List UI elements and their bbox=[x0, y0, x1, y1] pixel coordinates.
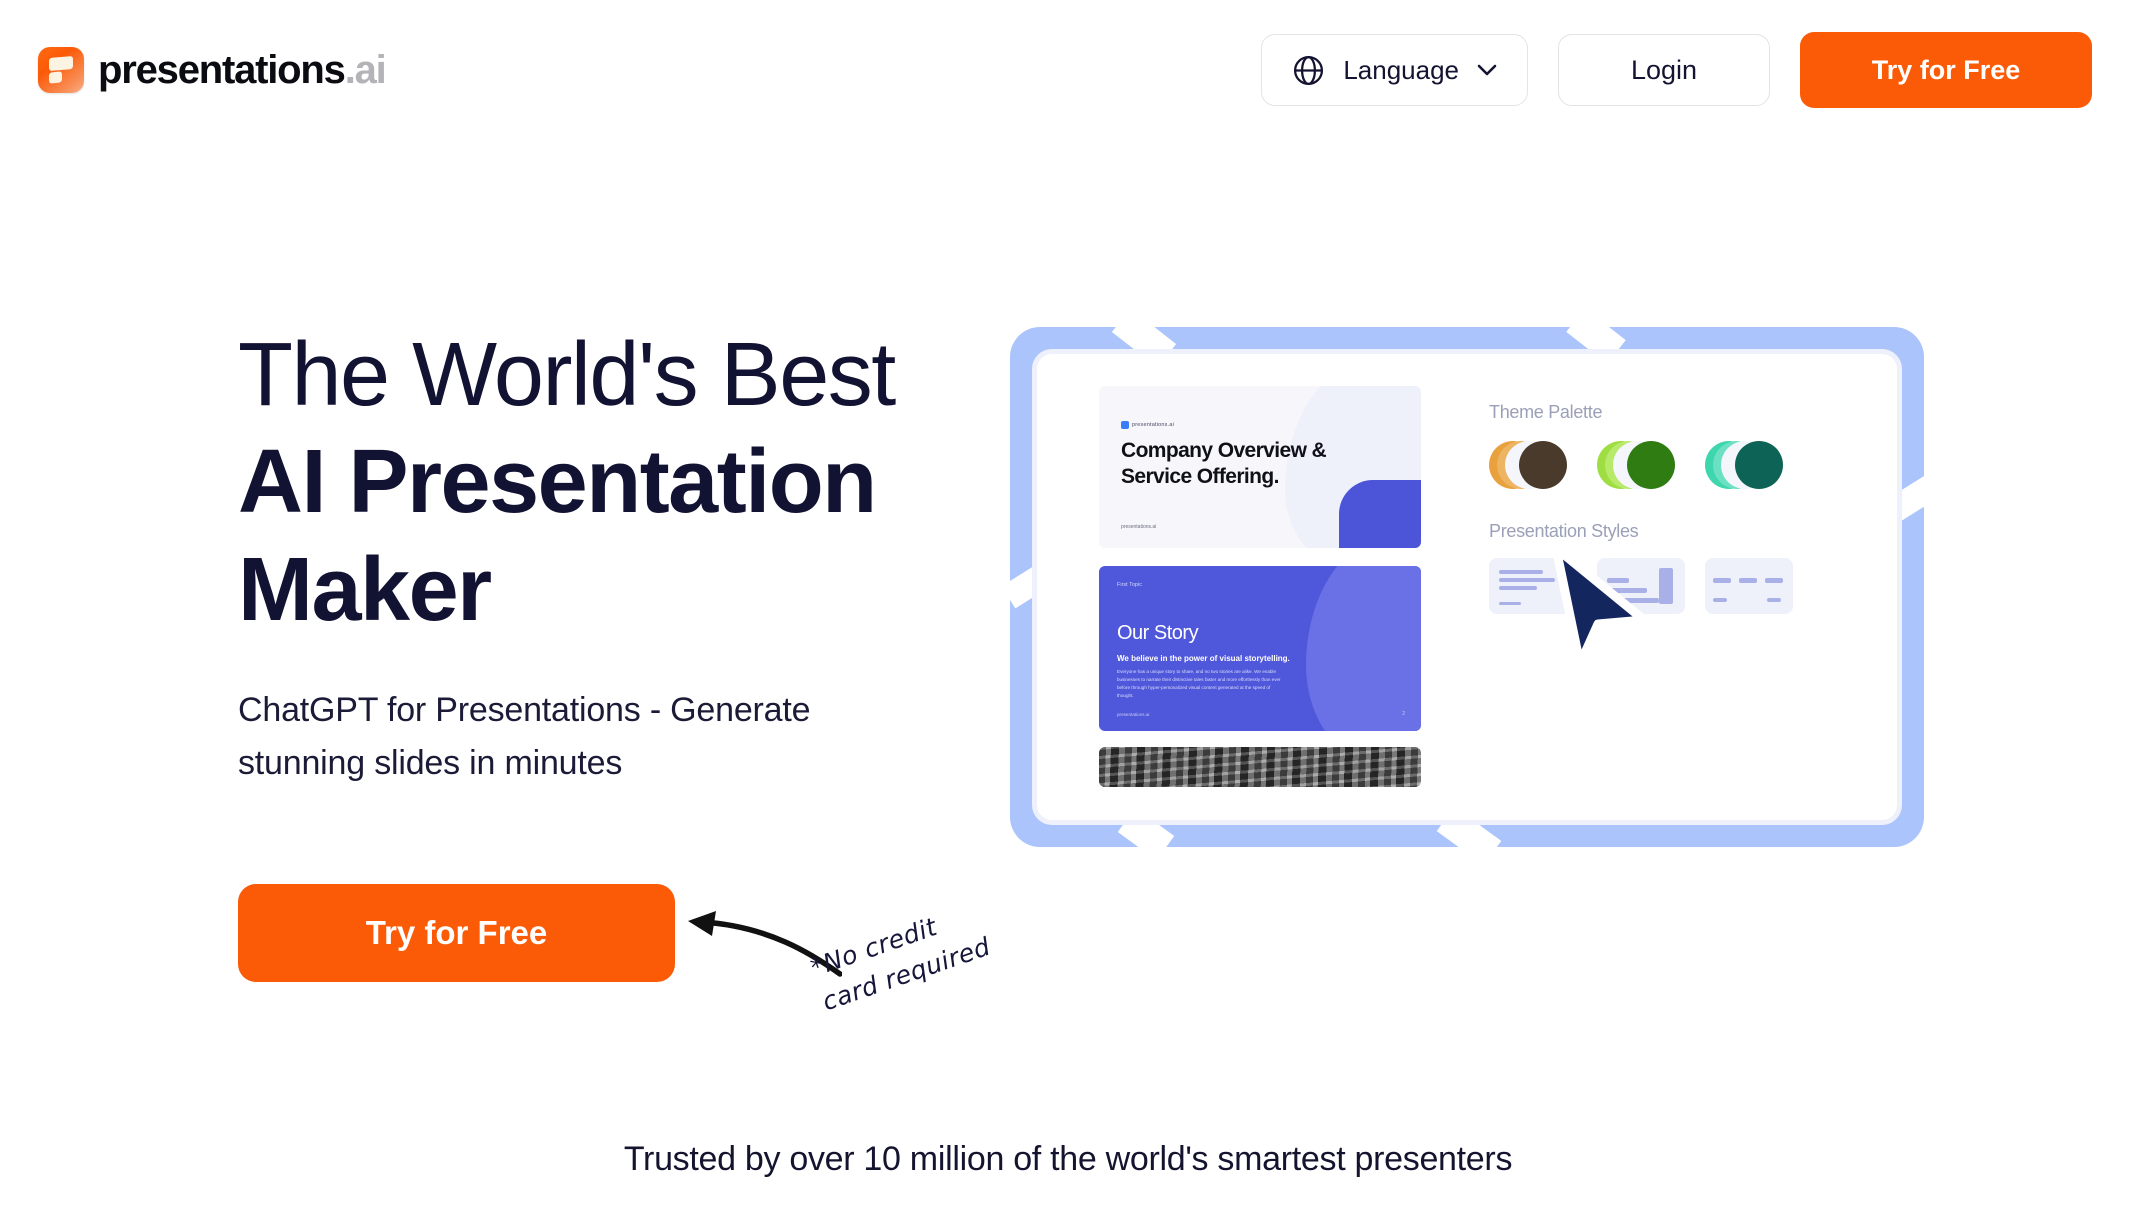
slide-page-number: 2 bbox=[1402, 711, 1405, 717]
slide-tag: First Topic bbox=[1117, 582, 1142, 588]
brand-suffix: .ai bbox=[345, 48, 386, 92]
palette-swatch-lime-green[interactable] bbox=[1597, 441, 1675, 489]
slide-thumbnail-list: presentations.ai Company Overview & Serv… bbox=[1099, 386, 1421, 787]
header-try-for-free-button[interactable]: Try for Free bbox=[1800, 32, 2092, 108]
site-header: presentations.ai Language Login Try for … bbox=[0, 0, 2136, 140]
product-preview-card: presentations.ai Company Overview & Serv… bbox=[1032, 349, 1902, 825]
slide-body: Everyone has a unique story to share, an… bbox=[1117, 668, 1287, 700]
slide-thumbnail-our-story[interactable]: First Topic Our Story We believe in the … bbox=[1099, 566, 1421, 731]
slide-title: Our Story bbox=[1117, 622, 1198, 645]
theme-palette-label: Theme Palette bbox=[1489, 402, 1819, 423]
headline-line-3: Maker bbox=[238, 536, 938, 644]
slide-subtitle: We believe in the power of visual storyt… bbox=[1117, 654, 1290, 663]
theme-palette-swatches bbox=[1489, 441, 1819, 489]
brand-wordmark: presentations.ai bbox=[98, 50, 386, 90]
product-preview-frame: presentations.ai Company Overview & Serv… bbox=[1010, 327, 1924, 847]
language-label: Language bbox=[1343, 55, 1459, 86]
palette-swatch-orange-brown[interactable] bbox=[1489, 441, 1567, 489]
page-title: The World's Best AI Presentation Maker bbox=[238, 322, 938, 644]
brand-name: presentations bbox=[98, 48, 345, 92]
headline-line-2: AI Presentation bbox=[238, 428, 938, 536]
globe-icon bbox=[1292, 54, 1325, 87]
chevron-down-icon bbox=[1477, 64, 1497, 76]
presentation-styles-label: Presentation Styles bbox=[1489, 521, 1819, 542]
landing-page: presentations.ai Language Login Try for … bbox=[0, 0, 2136, 1223]
hero-subhead: ChatGPT for Presentations - Generate stu… bbox=[238, 684, 898, 789]
slide-thumbnail-company-overview[interactable]: presentations.ai Company Overview & Serv… bbox=[1099, 386, 1421, 548]
slide-logo: presentations.ai bbox=[1121, 421, 1174, 429]
slide-footer: presentations.ai bbox=[1117, 712, 1149, 717]
mouse-pointer-icon bbox=[1532, 540, 1652, 670]
language-selector[interactable]: Language bbox=[1261, 34, 1528, 106]
hero-try-for-free-button[interactable]: Try for Free bbox=[238, 884, 675, 982]
slide-footer: presentations.ai bbox=[1121, 524, 1156, 530]
header-actions: Language Login Try for Free bbox=[1261, 32, 2092, 108]
slide-thumbnail-group-photo[interactable] bbox=[1099, 747, 1421, 787]
slide-title: Company Overview & Service Offering. bbox=[1121, 438, 1331, 490]
hero-copy: The World's Best AI Presentation Maker C… bbox=[238, 322, 938, 790]
brand-logo[interactable]: presentations.ai bbox=[38, 47, 386, 93]
trusted-by-text: Trusted by over 10 million of the world'… bbox=[0, 1140, 2136, 1179]
style-thumb-columns-layout[interactable] bbox=[1705, 558, 1793, 614]
headline-line-1: The World's Best bbox=[238, 322, 938, 428]
slide-logo-label: presentations.ai bbox=[1132, 422, 1174, 428]
login-button[interactable]: Login bbox=[1558, 34, 1770, 106]
palette-swatch-teal-green[interactable] bbox=[1705, 441, 1783, 489]
presentations-logo-icon bbox=[38, 47, 84, 93]
